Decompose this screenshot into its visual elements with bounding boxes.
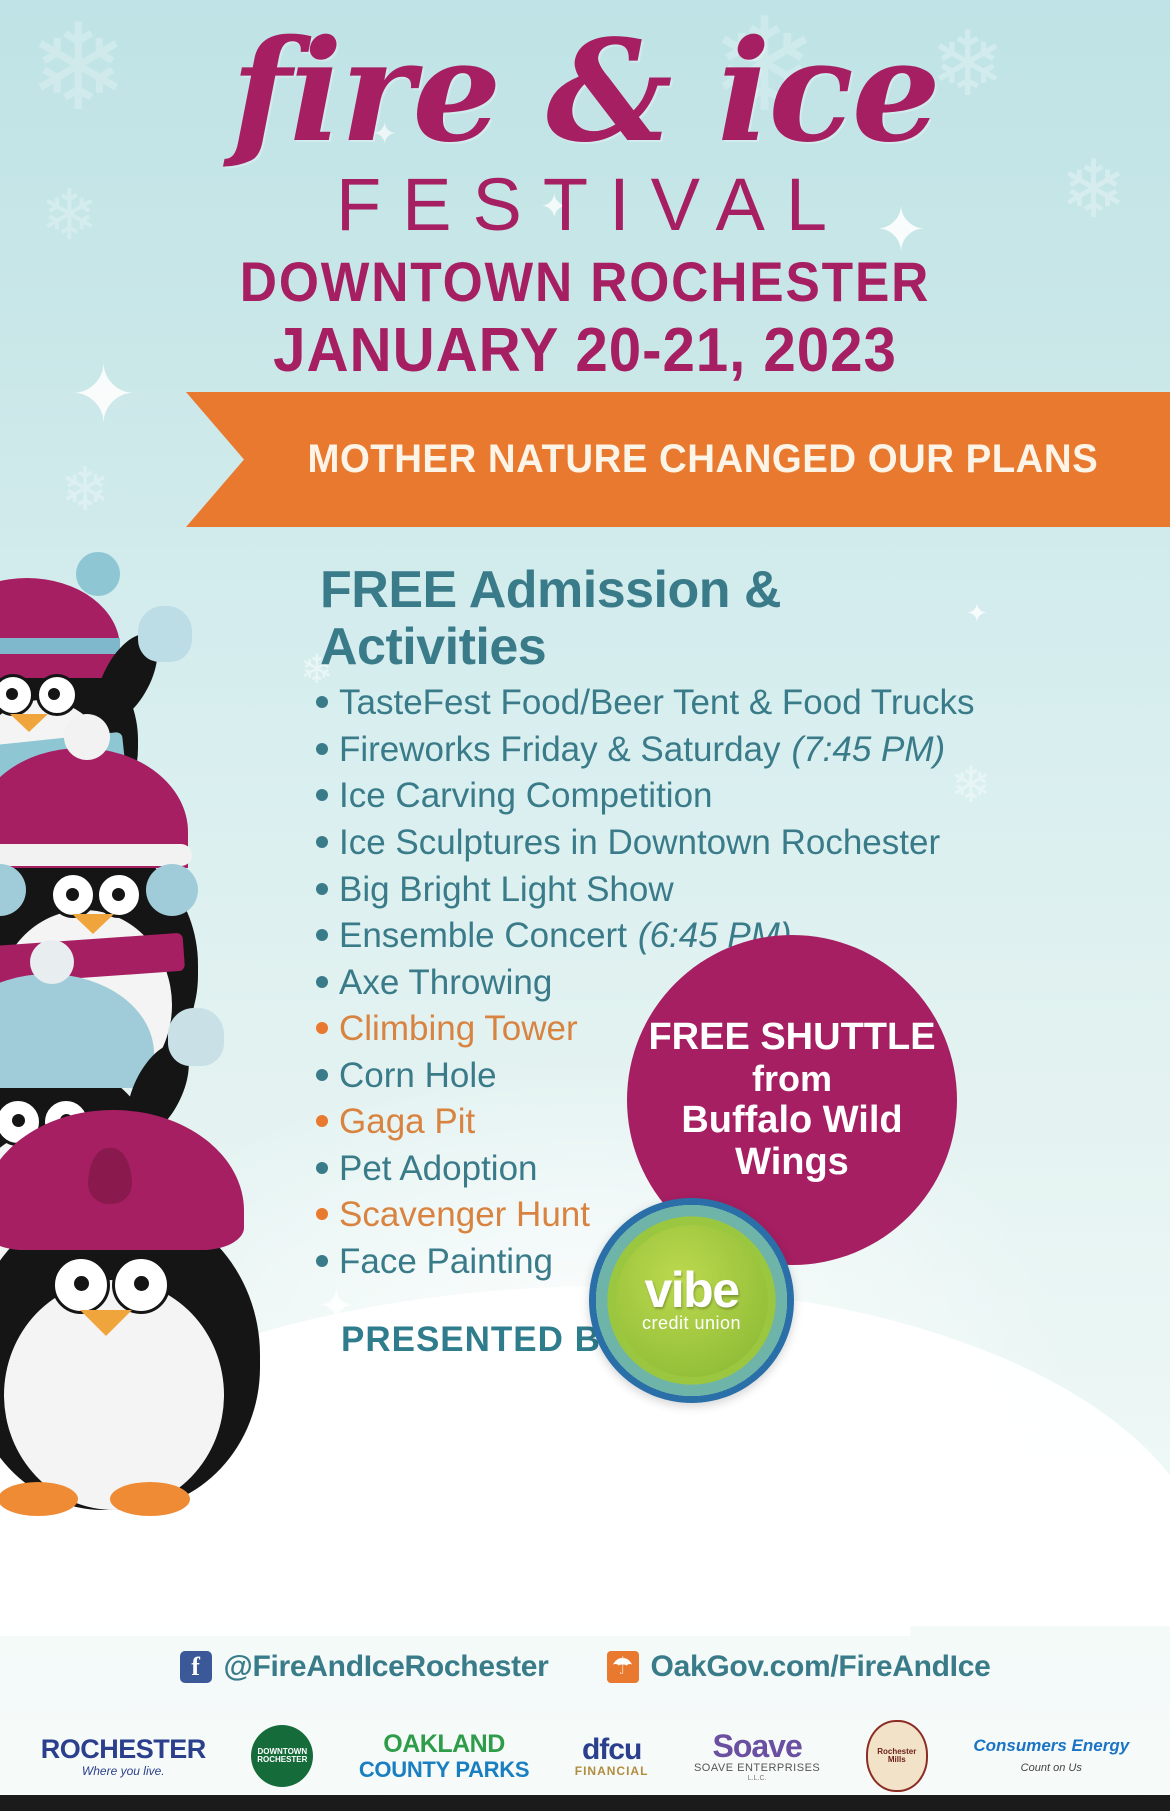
activity-item: Ice Sculptures in Downtown Rochester: [316, 820, 1016, 867]
penguin-pupil-right: [134, 1276, 149, 1291]
subtitle-city: DOWNTOWN ROCHESTER: [47, 254, 1123, 310]
penguin-pupil-left: [6, 688, 18, 700]
shuttle-line-4: Wings: [735, 1141, 849, 1184]
activity-label: Axe Throwing: [339, 960, 552, 1007]
sponsor-ocp-line1: OAKLAND: [383, 1731, 505, 1757]
penguin-hat: [0, 974, 154, 1088]
sponsor-soave-llc: L.L.C.: [748, 1775, 767, 1782]
activity-item: Big Bright Light Show: [316, 867, 1016, 914]
activity-label: Pet Adoption: [339, 1146, 538, 1193]
vibe-logo-word: vibe: [644, 1267, 738, 1315]
activities-heading: FREE Admission & Activities: [320, 562, 1016, 676]
activity-label: Climbing Tower: [339, 1006, 578, 1053]
activity-label: Big Bright Light Show: [339, 867, 674, 914]
bullet-icon: [316, 1208, 328, 1220]
penguin-pupil-left: [74, 1276, 89, 1291]
activity-label: Ensemble Concert: [339, 913, 627, 960]
penguin-pupil-right: [112, 888, 125, 901]
bullet-icon: [316, 836, 328, 848]
activity-time-note: (7:45 PM): [792, 727, 946, 774]
activity-label: Corn Hole: [339, 1053, 497, 1100]
bullet-icon: [316, 1022, 328, 1034]
vibe-logo-inner: vibe credit union: [616, 1225, 768, 1377]
penguin-helmet-flame-icon: [88, 1148, 132, 1204]
page-title: fire & ice: [0, 22, 1170, 162]
presented-by-label: PRESENTED BY:: [341, 1320, 635, 1360]
activity-item: Fireworks Friday & Saturday (7:45 PM): [316, 727, 1016, 774]
penguin-pupil-left: [66, 888, 79, 901]
activity-label: Face Painting: [339, 1239, 553, 1286]
sponsor-downtown-rochester-name: DOWNTOWN ROCHESTER: [251, 1725, 313, 1787]
penguin-mitten: [168, 1008, 224, 1066]
bullet-icon: [316, 1255, 328, 1267]
vibe-credit-union-logo: vibe credit union: [589, 1198, 794, 1403]
announcement-banner: MOTHER NATURE CHANGED OUR PLANS: [186, 392, 1170, 527]
sponsor-consumers-energy-name: Consumers Energy: [973, 1737, 1129, 1755]
penguin-foot-left: [0, 1482, 78, 1516]
bullet-icon: [316, 743, 328, 755]
sponsor-dfcu-financial: dfcu FINANCIAL: [575, 1734, 649, 1778]
penguin-earmuff-right: [146, 864, 198, 916]
penguin-hat-stripe: [0, 638, 120, 654]
website-url: OakGov.com/FireAndIce: [651, 1650, 991, 1684]
bullet-icon: [316, 1069, 328, 1081]
bullet-icon: [316, 1162, 328, 1174]
penguin-illustration-group: [0, 520, 308, 1500]
penguin-bottom: [0, 1130, 290, 1510]
activity-item: TasteFest Food/Beer Tent & Food Trucks: [316, 680, 1016, 727]
activity-label: Gaga Pit: [339, 1099, 475, 1146]
bottom-bar: [0, 1795, 1170, 1811]
sponsor-rochester: ROCHESTER Where you live.: [41, 1735, 206, 1778]
activity-item: Ice Carving Competition: [316, 773, 1016, 820]
sponsor-ocp-line2: COUNTY PARKS: [359, 1758, 529, 1781]
activity-label: Fireworks Friday & Saturday: [339, 727, 781, 774]
activity-label: TasteFest Food/Beer Tent & Food Trucks: [339, 680, 975, 727]
bullet-icon: [316, 976, 328, 988]
globe-icon: ☂: [607, 1651, 639, 1683]
sponsor-soave-enterprises: Soave SOAVE ENTERPRISES L.L.C.: [694, 1730, 820, 1782]
activity-label: Scavenger Hunt: [339, 1192, 590, 1239]
social-links-row: f @FireAndIceRochester ☂ OakGov.com/Fire…: [0, 1650, 1170, 1684]
bullet-icon: [316, 1115, 328, 1127]
activity-label: Ice Carving Competition: [339, 773, 713, 820]
shuttle-line-2: from: [752, 1059, 832, 1099]
bullet-icon: [316, 883, 328, 895]
sponsor-oakland-county-parks: OAKLAND COUNTY PARKS: [359, 1731, 529, 1780]
activity-item: Ensemble Concert (6:45 PM): [316, 913, 1016, 960]
vibe-logo-subtitle: credit union: [642, 1313, 741, 1334]
shuttle-line-1: FREE SHUTTLE: [648, 1016, 935, 1059]
sponsor-rochester-mills-name: Rochester Mills: [866, 1720, 928, 1792]
sponsor-rochester-name: ROCHESTER: [41, 1735, 206, 1763]
shuttle-line-3: Buffalo Wild: [681, 1099, 902, 1142]
event-date: JANUARY 20-21, 2023: [35, 320, 1135, 382]
facebook-handle: @FireAndIceRochester: [224, 1650, 549, 1684]
bullet-icon: [316, 696, 328, 708]
bullet-icon: [316, 789, 328, 801]
facebook-link[interactable]: f @FireAndIceRochester: [180, 1650, 549, 1684]
penguin-mitten: [138, 606, 192, 662]
facebook-icon: f: [180, 1651, 212, 1683]
poster-header: fire & ice FESTIVAL DOWNTOWN ROCHESTER J…: [0, 0, 1170, 382]
sponsor-downtown-rochester: DOWNTOWN ROCHESTER: [251, 1725, 313, 1787]
sponsor-soave-name: Soave: [712, 1730, 801, 1764]
website-link[interactable]: ☂ OakGov.com/FireAndIce: [607, 1650, 991, 1684]
sponsor-consumers-energy-tagline: Count on Us: [1021, 1763, 1082, 1775]
announcement-banner-text: MOTHER NATURE CHANGED OUR PLANS: [308, 437, 1099, 482]
penguin-pupil-left: [12, 1114, 25, 1127]
sponsor-rochester-tagline: Where you live.: [82, 1765, 165, 1778]
sponsor-dfcu-name: dfcu: [582, 1734, 641, 1766]
sponsor-consumers-energy: Consumers Energy Count on Us: [973, 1737, 1129, 1774]
subtitle-festival: FESTIVAL: [14, 168, 1170, 242]
penguin-pupil-right: [48, 688, 60, 700]
sponsor-logos-row: ROCHESTER Where you live. DOWNTOWN ROCHE…: [0, 1716, 1170, 1796]
penguin-hat-pom: [64, 714, 110, 760]
penguin-hat-brim: [0, 844, 192, 866]
sponsor-soave-sub: SOAVE ENTERPRISES: [694, 1763, 820, 1775]
bullet-icon: [316, 929, 328, 941]
sponsor-dfcu-tagline: FINANCIAL: [575, 1765, 649, 1778]
sponsor-rochester-mills: Rochester Mills: [866, 1720, 928, 1792]
poster-canvas: ❄ ❄ ❄ ❄ ❄ ❄ ❄ ❄ ✦ ✦ ✦ ✦ ✦ ✦ fire & ice F…: [0, 0, 1170, 1811]
snowflake-icon: ❄: [60, 460, 110, 520]
activity-label: Ice Sculptures in Downtown Rochester: [339, 820, 940, 867]
penguin-hat-pom: [30, 940, 74, 984]
penguin-foot-right: [110, 1482, 190, 1516]
penguin-hat-pom: [76, 552, 120, 596]
